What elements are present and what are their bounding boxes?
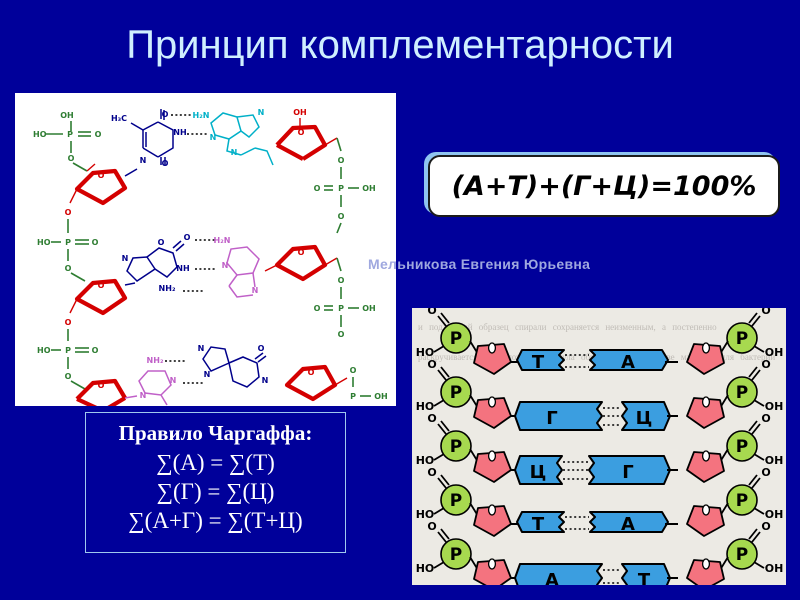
svg-text:N: N (262, 376, 269, 385)
svg-text:Т: Т (638, 570, 651, 585)
svg-text:O: O (65, 318, 72, 327)
svg-text:HO: HO (37, 346, 51, 355)
svg-text:H₂N: H₂N (193, 111, 210, 120)
svg-text:HO: HO (416, 562, 435, 575)
svg-text:Г: Г (546, 408, 557, 429)
svg-text:OH: OH (60, 111, 74, 120)
chargaff-line-3: ∑(А+Г) = ∑(Т+Ц) (86, 506, 345, 535)
svg-text:Ц: Ц (530, 462, 547, 483)
chemical-structure-panel: .ph{stroke:#2e7d32;stroke-width:1.6;fill… (15, 93, 396, 406)
svg-text:O: O (427, 308, 436, 317)
svg-text:Ц: Ц (636, 408, 653, 429)
svg-text:NH₂: NH₂ (159, 284, 176, 293)
svg-text:O: O (338, 330, 345, 339)
svg-text:N: N (210, 133, 217, 142)
svg-text:O: O (298, 128, 305, 137)
svg-text:OH: OH (362, 184, 376, 193)
base-pair-row: Ц Г (474, 451, 724, 484)
svg-text:P: P (67, 130, 73, 139)
svg-text:N: N (170, 376, 177, 385)
svg-text:O: O (314, 184, 321, 193)
svg-text:OH: OH (765, 562, 784, 575)
svg-text:P: P (338, 304, 344, 313)
svg-text:P: P (65, 346, 71, 355)
svg-text:O: O (98, 381, 105, 390)
base-pair-row: Т А (474, 505, 724, 536)
formula-text: (А+Т)+(Г+Ц)=100% (452, 171, 757, 202)
svg-text:O: O (350, 366, 357, 375)
svg-text:N: N (222, 261, 229, 270)
svg-text:O: O (95, 130, 102, 139)
svg-text:P: P (65, 238, 71, 247)
svg-text:NH: NH (176, 264, 189, 273)
svg-text:O: O (338, 276, 345, 285)
svg-text:N: N (140, 156, 147, 165)
svg-text:O: O (427, 358, 436, 371)
svg-text:O: O (314, 304, 321, 313)
svg-text:HO: HO (37, 238, 51, 247)
svg-text:N: N (122, 254, 129, 263)
svg-text:O: O (98, 171, 105, 180)
chargaff-line-1: ∑(А) = ∑(Т) (86, 448, 345, 477)
svg-text:O: O (68, 154, 75, 163)
svg-text:N: N (252, 286, 259, 295)
svg-text:P: P (338, 184, 344, 193)
svg-text:O: O (158, 238, 165, 247)
svg-text:O: O (162, 110, 169, 119)
svg-text:O: O (184, 233, 191, 242)
svg-text:N: N (140, 391, 147, 400)
base-pair-row: Г Ц (474, 397, 724, 430)
svg-text:O: O (258, 344, 265, 353)
svg-text:O: O (761, 412, 770, 425)
svg-text:O: O (761, 466, 770, 479)
svg-text:O: O (427, 466, 436, 479)
svg-text:N: N (204, 370, 211, 379)
svg-text:Т: Т (532, 352, 545, 373)
chemical-structure-diagram: .ph{stroke:#2e7d32;stroke-width:1.6;fill… (15, 93, 396, 406)
svg-text:O: O (65, 208, 72, 217)
svg-text:OH: OH (293, 108, 307, 117)
svg-text:O: O (427, 412, 436, 425)
svg-text:P: P (350, 392, 356, 401)
svg-text:NH₂: NH₂ (147, 356, 164, 365)
svg-text:H₃C: H₃C (111, 114, 127, 123)
author-name: Мельникова Евгения Юрьевна (368, 256, 590, 272)
dna-base-pairing-diagram: P O HO O (412, 308, 786, 585)
base-pair-row: А Т (474, 559, 724, 585)
page-title: Принцип комплементарности (0, 22, 800, 68)
svg-text:O: O (98, 281, 105, 290)
svg-text:NH: NH (173, 128, 186, 137)
svg-text:O: O (427, 520, 436, 533)
svg-text:O: O (761, 308, 770, 317)
svg-text:N: N (258, 108, 265, 117)
svg-text:O: O (761, 358, 770, 371)
formula-box: (А+Т)+(Г+Ц)=100% (428, 155, 780, 217)
svg-text:OH: OH (362, 304, 376, 313)
svg-text:А: А (621, 514, 635, 535)
svg-text:O: O (65, 372, 72, 381)
slide-canvas: Принцип комплементарности .ph{stroke:#2e… (0, 0, 800, 600)
svg-text:O: O (92, 238, 99, 247)
chargaff-rule-box: Правило Чаргаффа: ∑(А) = ∑(Т) ∑(Г) = ∑(Ц… (85, 412, 346, 553)
svg-text:Т: Т (532, 514, 545, 535)
dna-base-pairing-image: и подлинный образец спирали сохраняется … (412, 308, 786, 585)
svg-text:HO: HO (33, 130, 47, 139)
chargaff-title: Правило Чаргаффа: (86, 419, 345, 448)
base-pair-row: Т А (474, 343, 724, 374)
chargaff-line-2: ∑(Г) = ∑(Ц) (86, 477, 345, 506)
svg-text:H₂N: H₂N (214, 236, 231, 245)
svg-text:А: А (545, 570, 559, 585)
svg-text:N: N (198, 344, 205, 353)
svg-text:O: O (761, 520, 770, 533)
svg-text:А: А (621, 352, 635, 373)
svg-text:O: O (92, 346, 99, 355)
svg-text:O: O (298, 248, 305, 257)
svg-text:O: O (65, 264, 72, 273)
svg-text:Г: Г (622, 462, 633, 483)
svg-text:O: O (308, 368, 315, 377)
svg-text:O: O (338, 212, 345, 221)
svg-text:O: O (338, 156, 345, 165)
svg-text:OH: OH (374, 392, 388, 401)
